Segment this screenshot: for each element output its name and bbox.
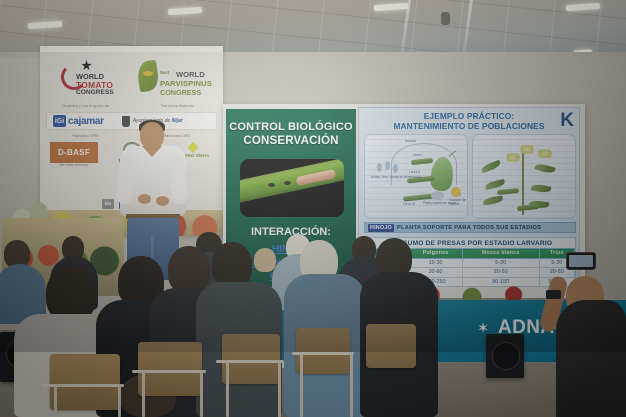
umbel-flower-icon bbox=[503, 153, 523, 162]
caption-left: Organiza y con el apoyo de bbox=[40, 104, 132, 108]
wpc-line2: PARVISPINUS bbox=[160, 79, 212, 88]
ceiling-cable bbox=[400, 0, 411, 58]
label-eclosion: Eclosión de huevos bbox=[449, 198, 467, 206]
fennel-leaf-icon bbox=[534, 162, 555, 174]
ceiling-cable bbox=[462, 0, 473, 58]
larva1-icon bbox=[411, 158, 433, 165]
fennel-leaf-icon bbox=[484, 179, 505, 190]
fennel-leaf-icon bbox=[480, 160, 501, 173]
cycle-arc-icon bbox=[391, 143, 457, 185]
world-tomato-congress-logo: WORLD TOMATO CONGRESS bbox=[54, 59, 128, 101]
plant-stem-icon bbox=[522, 153, 524, 215]
caption-right: Patrocinio Nacional bbox=[132, 104, 224, 108]
hinojo-support-banner: HINOJO PLANTA SOPORTE PARA TODOS SUS EST… bbox=[364, 222, 576, 233]
audience-head-hat bbox=[254, 248, 276, 272]
ceiling-light bbox=[374, 3, 408, 11]
larva-on-plant-icon bbox=[517, 204, 539, 211]
chair bbox=[296, 328, 350, 374]
emergence-icon bbox=[451, 187, 461, 197]
adult-lacewing-icon bbox=[429, 156, 454, 192]
label-cocoon: Pupa (capullo de seda) bbox=[423, 201, 456, 205]
cajamar-logo: iGi cajamar bbox=[47, 115, 104, 127]
chair-leg bbox=[142, 372, 145, 417]
egg-icon bbox=[385, 161, 390, 170]
filmer-body bbox=[556, 300, 626, 417]
larva3-icon bbox=[403, 193, 435, 201]
ceiling-camera bbox=[441, 12, 450, 25]
mini-sponsor-logo: bio bbox=[102, 199, 115, 209]
wpc-pre: Next bbox=[160, 70, 169, 75]
presenter-head bbox=[140, 122, 164, 149]
egg-icon bbox=[377, 163, 382, 172]
chair-leg bbox=[54, 386, 57, 417]
larva-on-leaf-photo bbox=[240, 159, 344, 217]
cocoon-icon bbox=[431, 191, 444, 200]
label-eggs: Adulto: libre, fuente de alimentación bbox=[371, 175, 422, 179]
slide-right-title-line2: MANTENIMIENTO DE POBLACIONES bbox=[359, 121, 579, 131]
label-larva1: Larva I bbox=[413, 153, 423, 157]
label-larva3: Larva III bbox=[403, 202, 415, 206]
slide-right-title: EJEMPLO PRÁCTICO: MANTENIMIENTO DE POBLA… bbox=[359, 111, 579, 131]
chair bbox=[138, 342, 202, 396]
aphid-icon bbox=[268, 183, 275, 187]
smartphone bbox=[566, 252, 596, 270]
leaf-icon bbox=[136, 60, 160, 92]
label-adult: Adulto bbox=[452, 193, 461, 197]
larva-on-plant-icon bbox=[497, 188, 519, 195]
diamond-icon bbox=[188, 142, 199, 153]
banner-highlight: HINOJO bbox=[368, 224, 394, 232]
cajamar-wordmark: cajamar bbox=[68, 116, 104, 127]
larva2-icon bbox=[407, 176, 435, 184]
koppert-k-logo: K bbox=[560, 112, 574, 129]
umbel-flower-icon bbox=[517, 145, 537, 154]
presenter-hand-right bbox=[156, 196, 169, 206]
conference-photo-scene: WORLD TOMATO CONGRESS Next WORLD PARVISP… bbox=[0, 0, 626, 417]
slide-right-diagrams: Adulto Larva I Larva II Larva III Adulto… bbox=[364, 134, 576, 219]
fennel-leaf-icon bbox=[529, 200, 550, 210]
presenter-hand-left bbox=[138, 194, 151, 204]
basf-logo: D-BASF bbox=[50, 142, 98, 163]
banner-text: PLANTA SOPORTE PARA TODOS SUS ESTADIOS bbox=[397, 225, 541, 231]
basf-tagline: We create chemistry bbox=[50, 163, 98, 167]
fennel-leaf-icon bbox=[483, 196, 504, 206]
chair-leg bbox=[118, 386, 121, 417]
chair bbox=[222, 334, 280, 384]
umbel-flower-icon bbox=[535, 149, 555, 158]
life-cycle-diagram: Adulto Larva I Larva II Larva III Adulto… bbox=[364, 134, 468, 219]
ceiling-light bbox=[28, 21, 62, 29]
chair-leg bbox=[200, 372, 203, 417]
wpc-line3: CONGRESS bbox=[160, 88, 201, 97]
wing-icon bbox=[449, 150, 457, 156]
world-parvispinus-congress-logo: Next WORLD PARVISPINUS CONGRESS bbox=[136, 59, 218, 101]
label-eggs-top: Huevos bbox=[405, 139, 416, 143]
chair-leg bbox=[350, 354, 353, 417]
chair-leg bbox=[300, 354, 303, 417]
audience bbox=[0, 236, 626, 417]
aphid-icon bbox=[284, 181, 291, 185]
chair bbox=[50, 354, 120, 410]
chair-leg bbox=[226, 362, 229, 417]
label-larva2: Larva II bbox=[409, 170, 420, 174]
audience-head bbox=[168, 246, 210, 294]
fennel-leaf-icon bbox=[531, 183, 552, 193]
wristwatch bbox=[546, 290, 561, 299]
chair bbox=[366, 324, 416, 368]
ceiling-light bbox=[566, 3, 600, 11]
cajamar-mark-icon: iGi bbox=[53, 115, 66, 127]
wpc-line1: WORLD bbox=[176, 70, 205, 79]
slide-right-title-line1: EJEMPLO PRÁCTICO: bbox=[359, 111, 579, 121]
wtc-line3: CONGRESS bbox=[76, 89, 114, 96]
thrips-icon bbox=[143, 71, 153, 76]
ceiling-light bbox=[168, 7, 202, 15]
fennel-plant-diagram bbox=[472, 134, 576, 219]
slide-left-title-line2: CONSERVACIÓN bbox=[226, 135, 356, 147]
leaf-image bbox=[240, 159, 344, 203]
slide-left-title-line1: CONTROL BIOLÓGICO bbox=[226, 121, 356, 133]
chair-leg bbox=[278, 362, 281, 417]
egg-icon bbox=[393, 164, 398, 173]
